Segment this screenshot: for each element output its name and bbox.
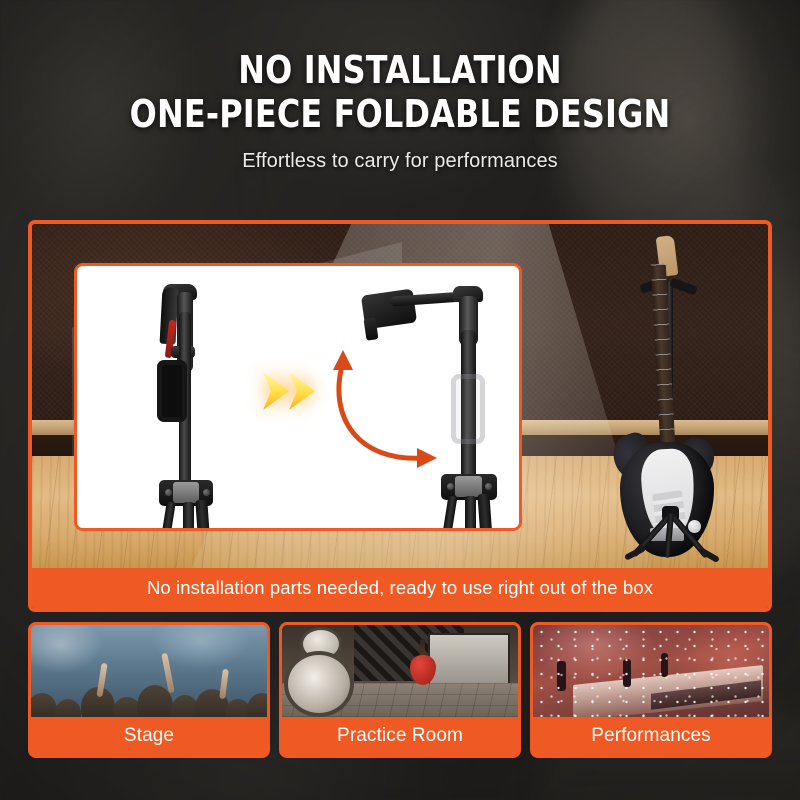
crowd-silhouettes xyxy=(31,657,267,717)
stand-joint-screw xyxy=(447,483,454,490)
hero-caption-text: No installation parts needed, ready to u… xyxy=(147,577,653,599)
stand-leg xyxy=(183,502,194,531)
scenario-card-stage[interactable]: Stage xyxy=(28,622,270,758)
headline-line-1: NO INSTALLATION xyxy=(64,48,736,92)
stand-folded-state xyxy=(139,284,229,531)
card-image-performances xyxy=(533,625,769,717)
hero-photo xyxy=(32,224,768,568)
stand-leg xyxy=(159,502,175,531)
stand-joint-plate xyxy=(173,482,199,503)
electric-guitar-on-stand xyxy=(592,234,742,554)
hero-caption-bar: No installation parts needed, ready to u… xyxy=(32,568,768,608)
red-electric-guitar xyxy=(410,639,436,685)
stand-joint-screw xyxy=(203,489,210,496)
subtitle: Effortless to carry for performances xyxy=(0,150,800,173)
stand-yoke-right xyxy=(669,278,697,296)
confetti-particles xyxy=(533,625,769,717)
stand-yoke-ghost-position xyxy=(451,374,485,444)
drum-kick xyxy=(284,651,354,717)
stand-joint-screw xyxy=(165,489,172,496)
hero-panel: No installation parts needed, ready to u… xyxy=(28,220,772,612)
usage-scenario-cards: Stage Practice Room xyxy=(28,622,772,758)
stand-leg xyxy=(442,496,458,531)
scenario-card-performances[interactable]: Performances xyxy=(530,622,772,758)
card-label-performances: Performances xyxy=(533,717,769,755)
product-feature-page: NO INSTALLATION ONE-PIECE FOLDABLE DESIG… xyxy=(0,0,800,800)
stand-yoke-arm-folded xyxy=(157,360,187,422)
folding-demo-panel xyxy=(74,263,522,531)
stand-joint-screw xyxy=(485,483,492,490)
headline-line-2: ONE-PIECE FOLDABLE DESIGN xyxy=(64,92,736,136)
card-label-practice-room: Practice Room xyxy=(282,717,518,755)
card-image-stage xyxy=(31,625,267,717)
stand-unfolded-state xyxy=(345,278,515,531)
card-image-practice-room xyxy=(282,625,518,717)
double-chevron-right-icon xyxy=(259,366,329,416)
card-label-stage: Stage xyxy=(31,717,267,755)
guitar-amplifier xyxy=(428,633,510,685)
stand-leg xyxy=(465,496,476,531)
red-guitar-body xyxy=(410,655,436,685)
scenario-card-practice-room[interactable]: Practice Room xyxy=(279,622,521,758)
header-block: NO INSTALLATION ONE-PIECE FOLDABLE DESIG… xyxy=(0,48,800,173)
